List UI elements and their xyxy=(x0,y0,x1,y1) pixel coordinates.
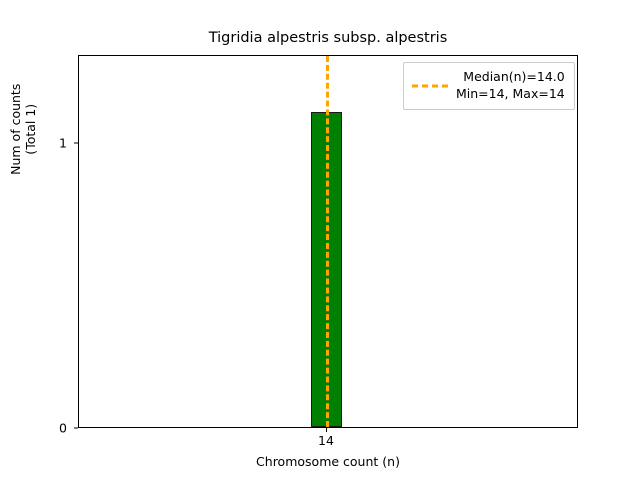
chart-title: Tigridia alpestris subsp. alpestris xyxy=(78,30,578,46)
legend-median-text: Median(n)=14.0 xyxy=(456,69,565,86)
dashed-line-icon xyxy=(412,80,448,92)
y-axis-label-line-1: Num of counts xyxy=(8,0,23,279)
legend-entry-median: Median(n)=14.0 Min=14, Max=14 xyxy=(412,69,565,103)
x-axis-label: Chromosome count (n) xyxy=(78,454,578,469)
chart-figure: Tigridia alpestris subsp. alpestris Num … xyxy=(0,0,640,480)
plot-area xyxy=(78,55,578,428)
median-line xyxy=(326,56,329,427)
legend-entry-text: Median(n)=14.0 Min=14, Max=14 xyxy=(456,69,565,103)
x-tick-mark-14 xyxy=(326,428,327,432)
x-tick-label-14: 14 xyxy=(318,433,334,448)
y-tick-label-1: 1 xyxy=(45,136,67,151)
y-axis-label-line-2: (Total 1) xyxy=(23,0,38,279)
y-axis-label: Num of counts (Total 1) xyxy=(8,0,39,279)
legend-minmax-text: Min=14, Max=14 xyxy=(456,86,565,103)
chart-legend: Median(n)=14.0 Min=14, Max=14 xyxy=(403,62,575,110)
y-tick-label-0: 0 xyxy=(45,421,67,436)
